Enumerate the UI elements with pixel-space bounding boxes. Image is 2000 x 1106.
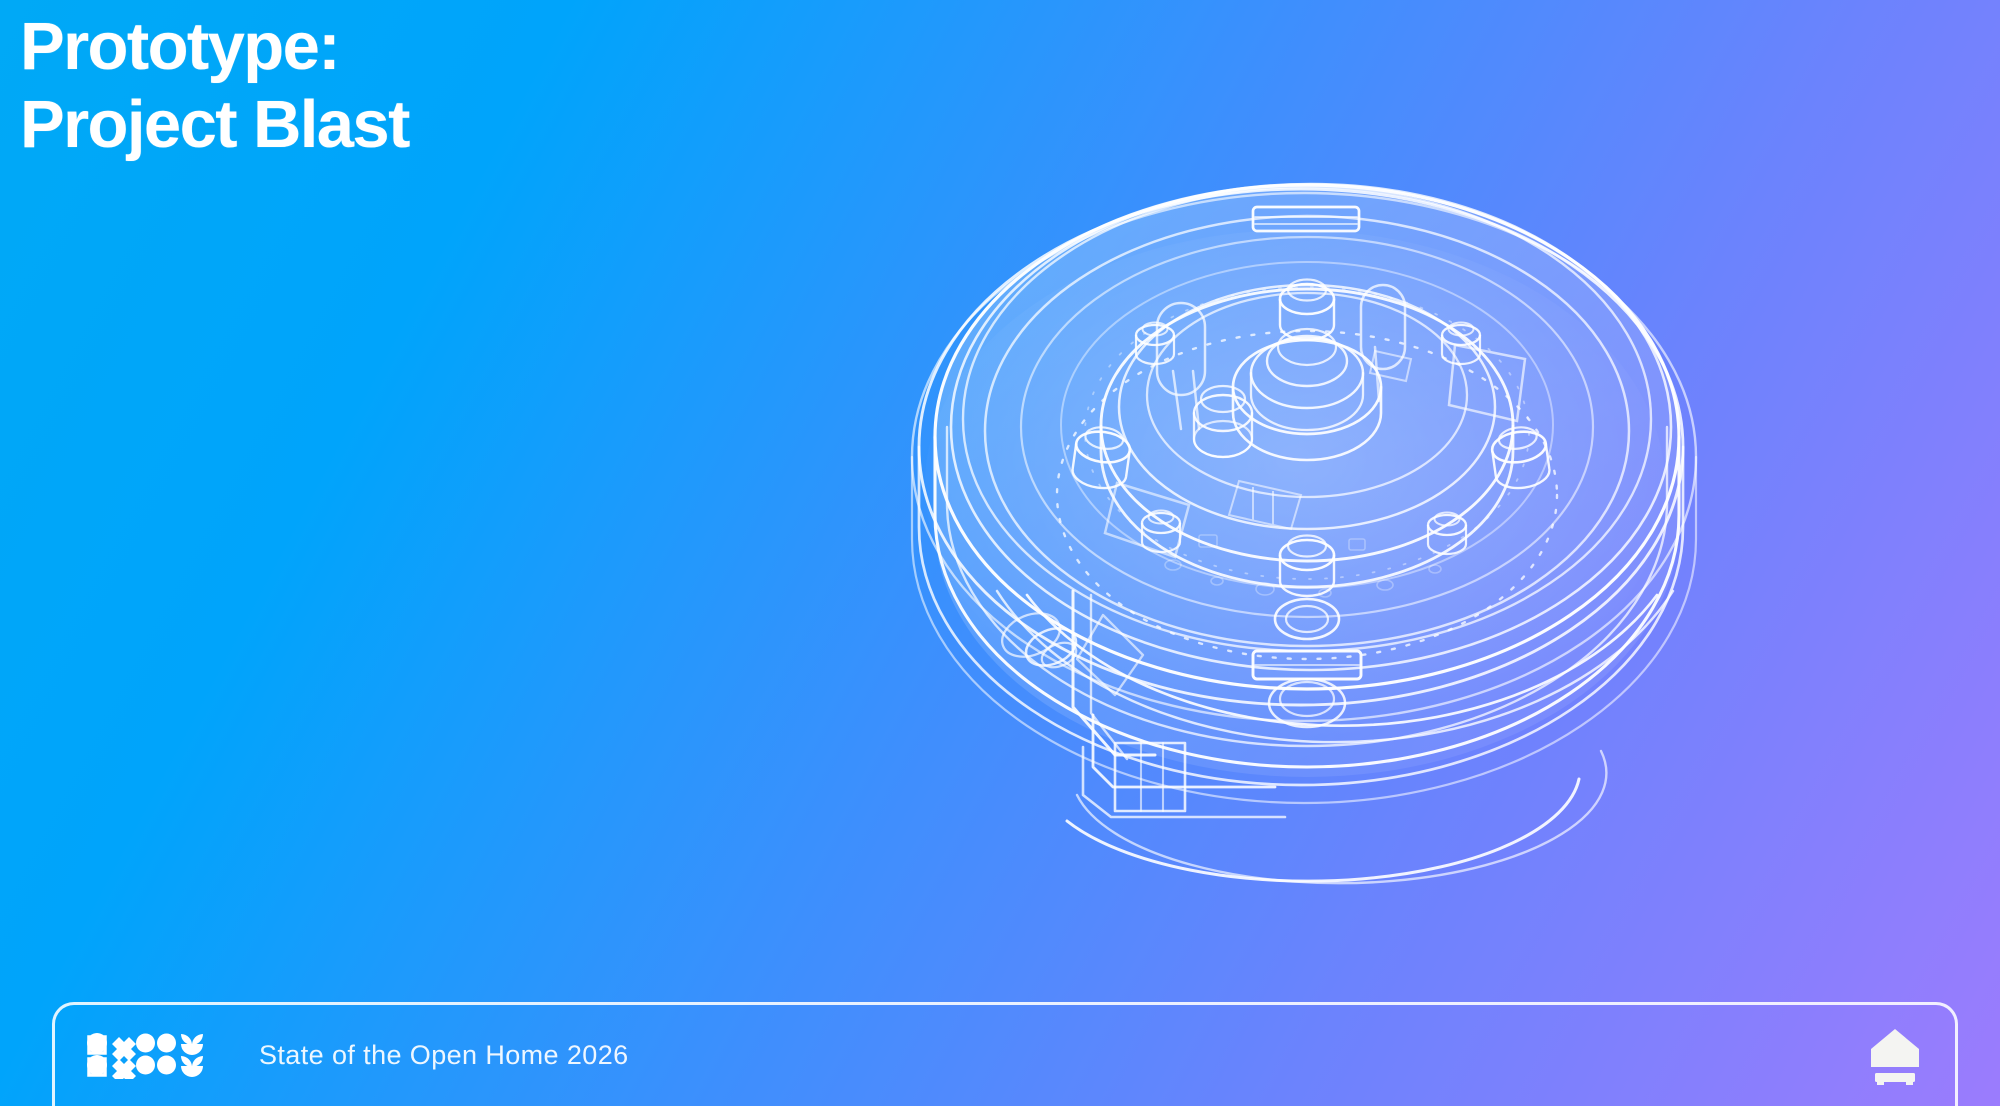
wireframe-device-render xyxy=(855,95,1735,905)
title-line-2: Project Blast xyxy=(20,86,409,164)
footer-event-label: State of the Open Home 2026 xyxy=(259,1040,629,1071)
home-assistant-house-icon xyxy=(1869,1027,1921,1085)
presentation-slide: Prototype: Project Blast xyxy=(0,0,2000,1106)
page-title: Prototype: Project Blast xyxy=(20,8,409,163)
open-home-foundation-logo xyxy=(85,1033,233,1079)
title-line-1: Prototype: xyxy=(20,8,409,86)
footer-branding: State of the Open Home 2026 xyxy=(85,1033,629,1079)
footer-bar: State of the Open Home 2026 xyxy=(52,1002,1958,1106)
